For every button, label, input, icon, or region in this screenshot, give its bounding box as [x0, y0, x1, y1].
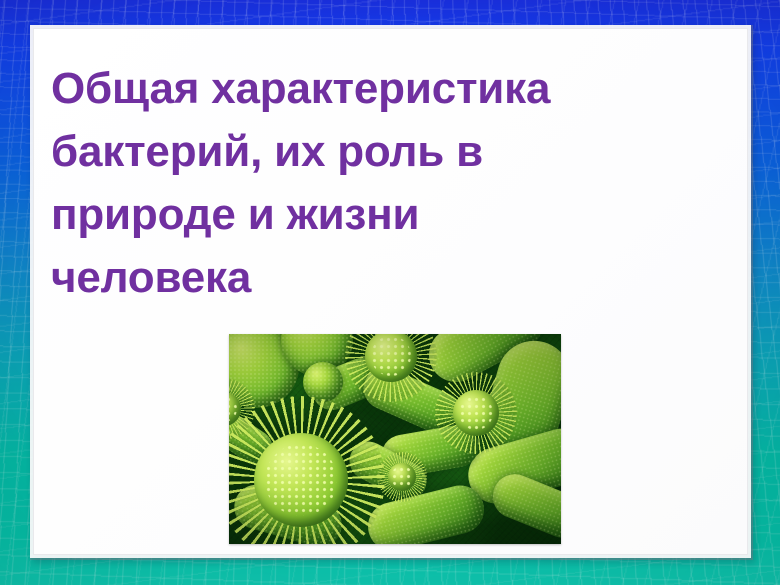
- spiky-microbe: [435, 372, 517, 454]
- spiky-microbe: [345, 334, 437, 402]
- spiky-microbe-core: [388, 463, 416, 491]
- presentation-slide: Общая характеристика бактерий, их роль в…: [0, 0, 780, 585]
- title-line-1: Общая характеристика: [51, 57, 721, 120]
- slide-content-card-surface: Общая характеристика бактерий, их роль в…: [34, 29, 747, 554]
- bacteria-micrograph-image: [229, 334, 561, 544]
- page-title: Общая характеристика бактерий, их роль в…: [51, 57, 721, 309]
- title-line-4: человека: [51, 246, 721, 309]
- micrograph-scene: [229, 334, 561, 544]
- slide-content-card: Общая характеристика бактерий, их роль в…: [33, 28, 748, 555]
- spiky-microbe-core: [254, 433, 348, 527]
- spiky-microbe-large: [229, 396, 385, 544]
- title-line-3: природе и жизни: [51, 183, 721, 246]
- spiky-microbe-core: [453, 390, 499, 436]
- title-line-2: бактерий, их роль в: [51, 120, 721, 183]
- spiky-microbe-core: [365, 334, 417, 382]
